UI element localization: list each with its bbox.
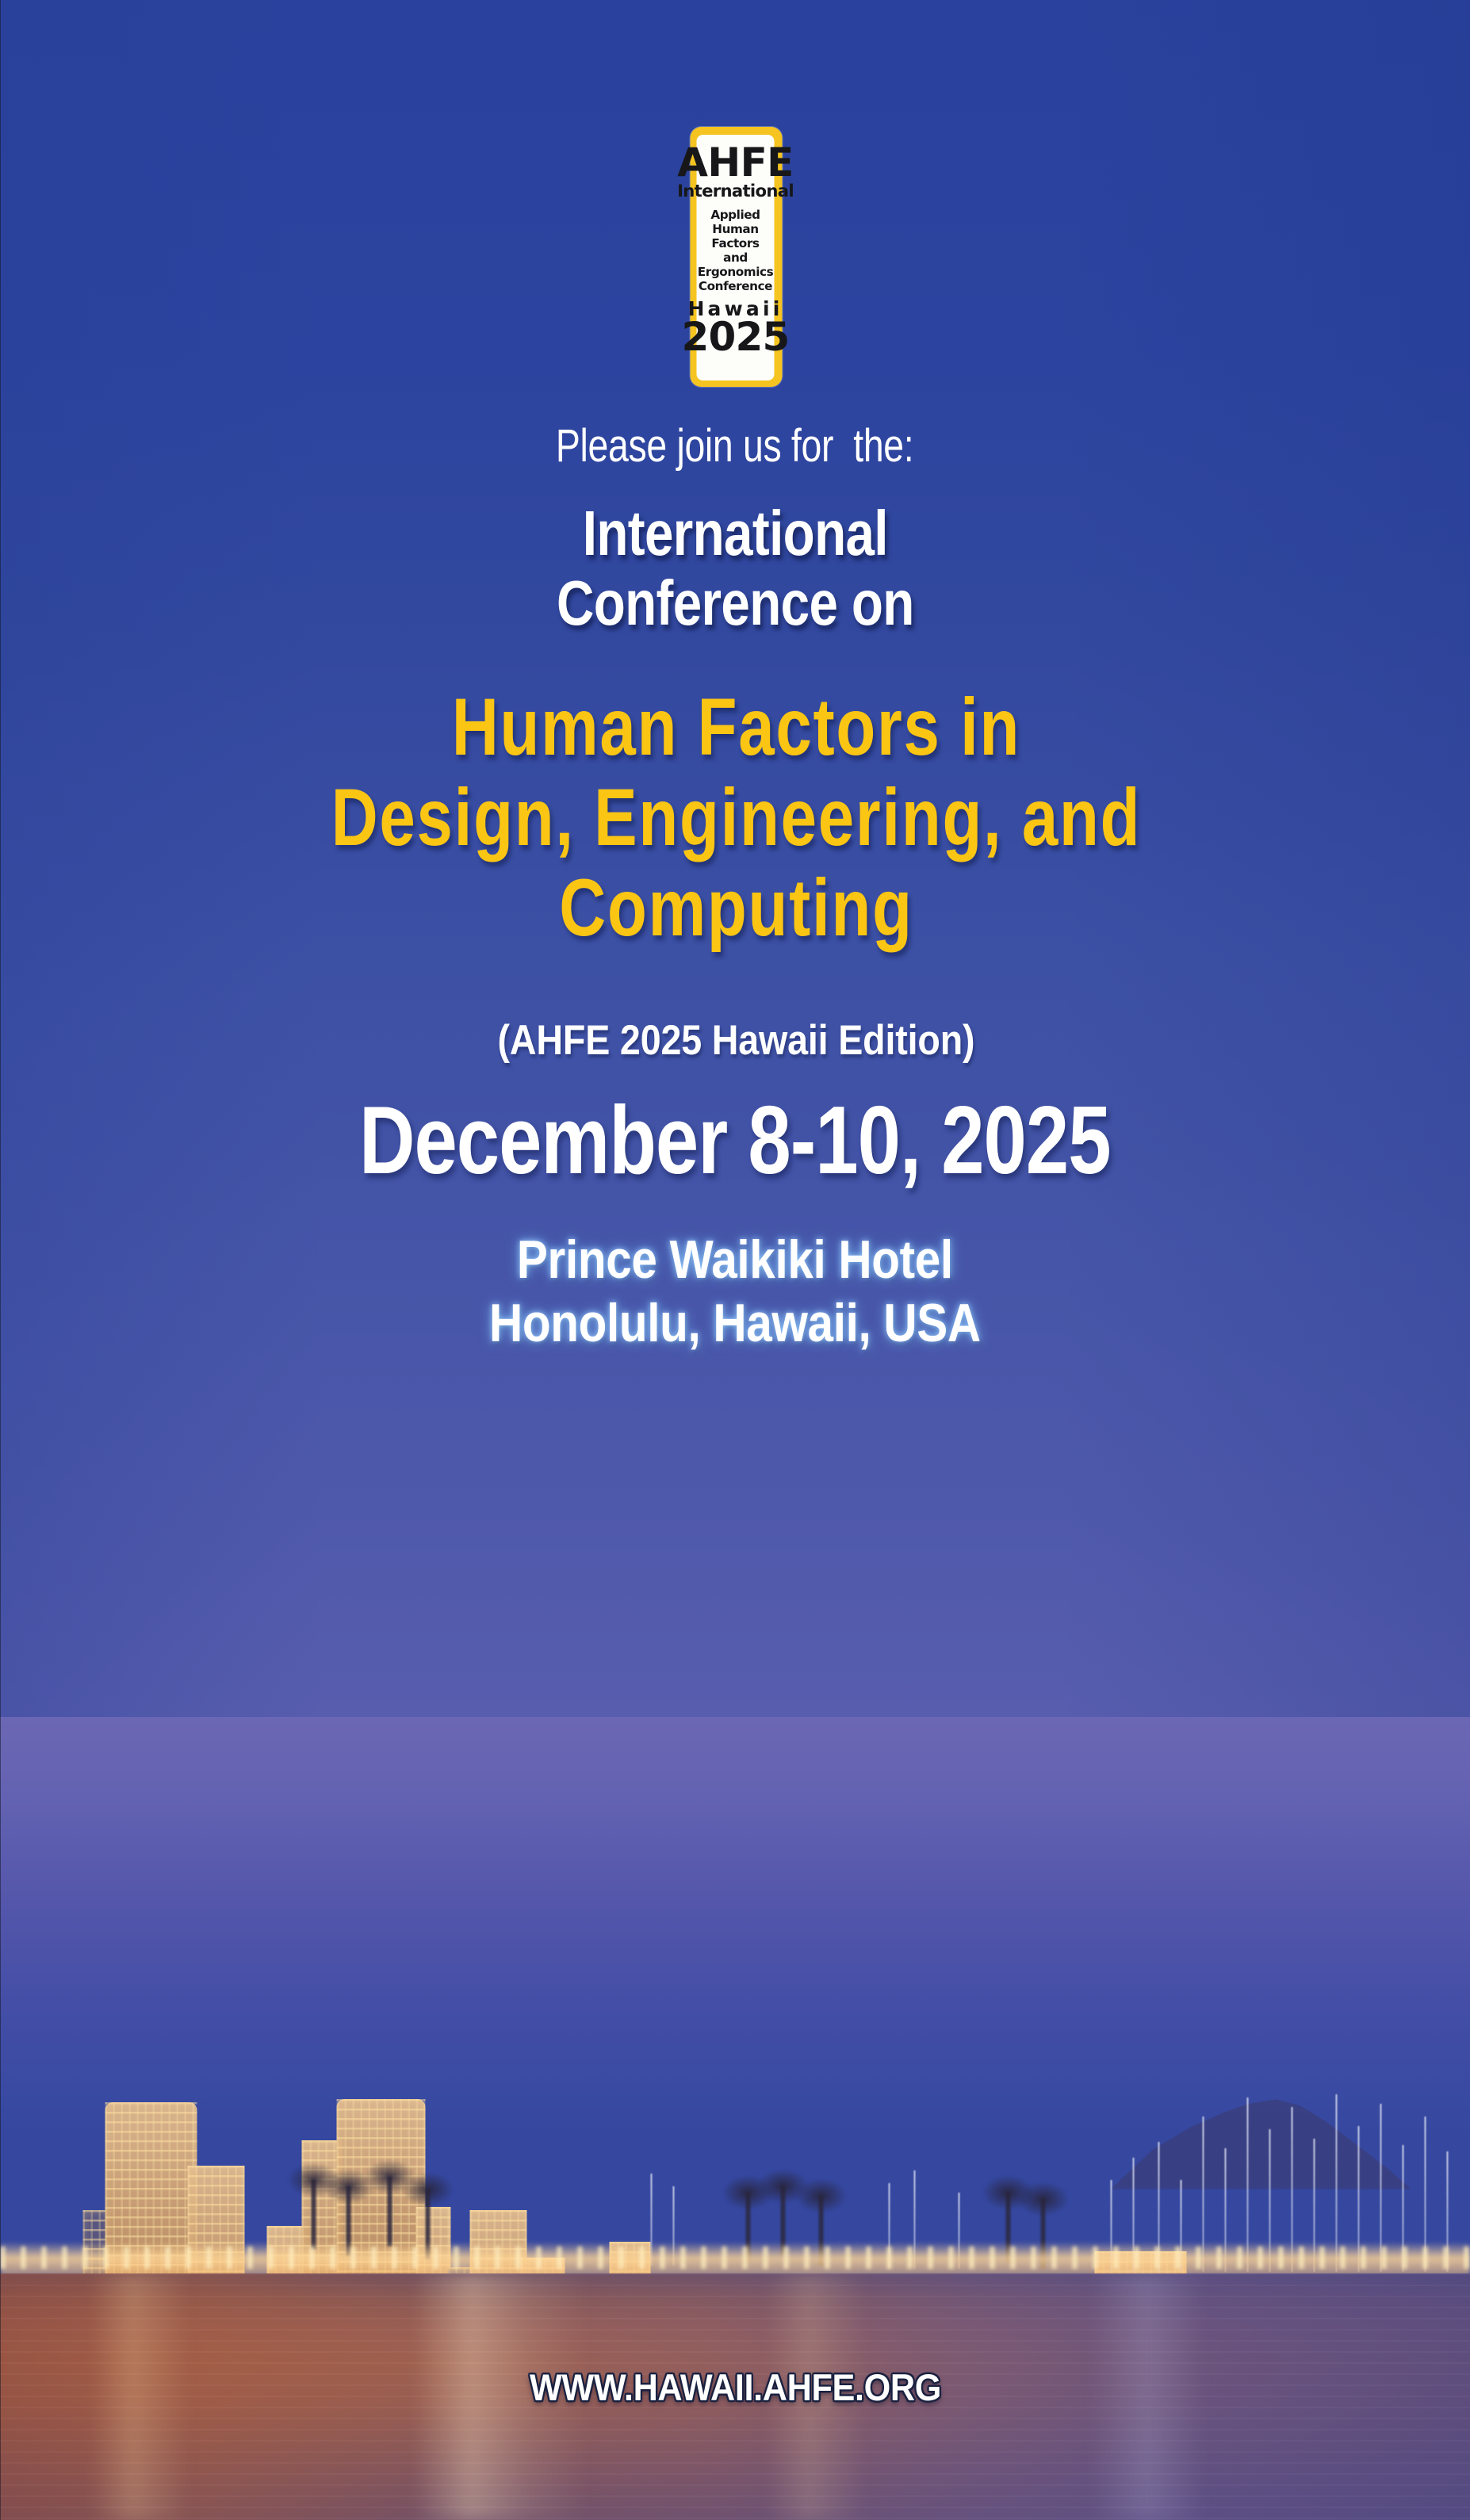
invitation-lead-in: Please join us for the: <box>556 422 913 474</box>
ahfe-logo: AHFE International Applied Human Factors… <box>689 127 781 387</box>
logo-ergonomics-text: and Ergonomics <box>697 250 773 278</box>
conference-prefix-line-1: International <box>557 499 914 569</box>
conference-prefix-line-2: Conference on <box>557 569 914 639</box>
logo-international-text: International <box>677 183 794 200</box>
ahfe-logo-inner: AHFE International Applied Human Factors… <box>696 134 774 380</box>
venue-city: Honolulu, Hawaii, USA <box>489 1294 981 1357</box>
conference-title-line-3: Computing <box>37 862 1433 953</box>
venue-hotel-name: Prince Waikiki Hotel <box>489 1231 981 1294</box>
venue-block: Prince Waikiki Hotel Honolulu, Hawaii, U… <box>489 1231 981 1357</box>
conference-poster: AHFE International Applied Human Factors… <box>0 0 1470 2520</box>
conference-title: Human Factors in Design, Engineering, an… <box>37 682 1433 954</box>
poster-content: AHFE International Applied Human Factors… <box>0 0 1470 2520</box>
conference-dates: December 8-10, 2025 <box>359 1085 1111 1196</box>
edition-label: (AHFE 2025 Hawaii Edition) <box>496 1017 974 1066</box>
website-url[interactable]: WWW.HAWAII.AHFE.ORG <box>59 2367 1411 2410</box>
logo-ahfe-text: AHFE <box>677 142 793 182</box>
logo-subtitle: Applied Human Factors and Ergonomics Con… <box>697 207 773 293</box>
logo-year-text: 2025 <box>681 318 789 358</box>
logo-conference-text: Conference <box>697 279 773 293</box>
logo-humanfactors-text: Human Factors <box>697 221 773 250</box>
conference-title-line-2: Design, Engineering, and <box>37 772 1433 862</box>
conference-title-line-1: Human Factors in <box>37 682 1433 772</box>
logo-applied-text: Applied <box>697 207 773 221</box>
conference-prefix: International Conference on <box>557 499 914 639</box>
